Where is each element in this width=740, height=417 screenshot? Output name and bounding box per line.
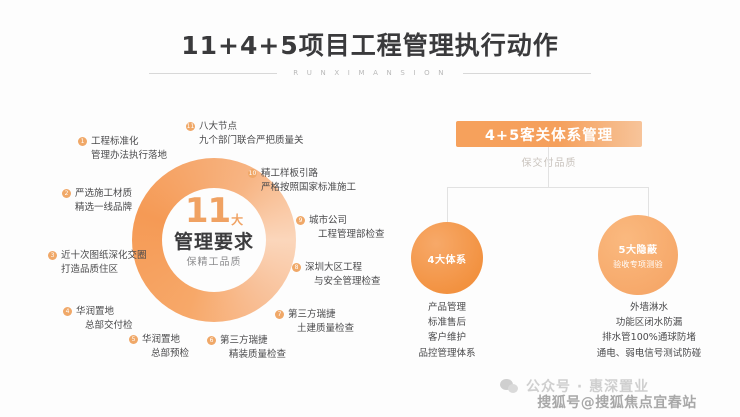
branch-bubble-5-hidden-line2: 验收专项测验 xyxy=(613,259,663,270)
ring-item-9-text: 城市公司 工程管理部检查 xyxy=(309,214,385,242)
ring-item-3-text: 近十次图纸深化交圈 打造品质住区 xyxy=(61,249,147,277)
ring-item-5[interactable]: 5 华润置地 总部预检 xyxy=(129,333,189,361)
branch-list-5-hidden: 外墙淋水 功能区闭水防漏 排水管100%通球防堵 通电、弱电信号测试防碰 xyxy=(558,300,740,361)
branch-bubble-4-systems[interactable]: 4大体系 xyxy=(411,222,483,294)
list-item: 功能区闭水防漏 xyxy=(558,315,740,330)
list-item: 客户维护 xyxy=(377,330,517,345)
list-item: 产品管理 xyxy=(377,300,517,315)
list-item: 标准售后 xyxy=(377,315,517,330)
ring-center-unit: 大 xyxy=(231,214,243,226)
ring-item-1-text: 工程标准化 管理办法执行落地 xyxy=(91,135,167,163)
ring-item-10-text: 精工样板引路 严格按照国家标准施工 xyxy=(261,167,356,195)
ring-item-2-dot: 2 xyxy=(62,189,71,198)
ring-item-2-text: 严选施工材质 精选一线品牌 xyxy=(75,187,132,215)
list-item: 通电、弱电信号测试防碰 xyxy=(558,346,740,361)
slide-canvas: 11+4+5项目工程管理执行动作 R U N X I M A N S I O N… xyxy=(0,0,740,417)
connector-branch-left xyxy=(447,187,448,222)
branch-list-4-systems: 产品管理 标准售后 客户维护 品控管理体系 xyxy=(377,300,517,361)
connector-crossbar xyxy=(447,187,649,188)
ring-item-5-dot: 5 xyxy=(129,335,138,344)
list-item: 排水管100%通球防堵 xyxy=(558,330,740,345)
ring-item-11-dot: 11 xyxy=(186,122,195,131)
ring-item-1[interactable]: 1 工程标准化 管理办法执行落地 xyxy=(78,135,167,163)
ring-item-3-dot: 3 xyxy=(48,251,57,260)
ring-item-7-dot: 7 xyxy=(275,310,284,319)
ring-center-main: 管理要求 xyxy=(132,233,296,252)
ring-item-4-text: 华润置地 总部交付检 xyxy=(76,305,133,333)
subtitle-divider-right xyxy=(463,73,591,74)
branch-bubble-4-systems-line1: 4大体系 xyxy=(428,251,467,266)
ring-item-6[interactable]: 6 第三方瑞捷 精装质量检查 xyxy=(207,334,286,362)
ring-item-10-dot: 10 xyxy=(248,169,257,178)
ring-item-6-dot: 6 xyxy=(207,336,216,345)
connector-stem xyxy=(548,147,549,187)
ring-item-11-text: 八大节点 九个部门联合严把质量关 xyxy=(199,120,304,148)
page-title: 11+4+5项目工程管理执行动作 xyxy=(0,26,740,62)
ring-item-10[interactable]: 10 精工样板引路 严格按照国家标准施工 xyxy=(248,167,356,195)
subtitle-row: R U N X I M A N S I O N xyxy=(0,69,740,77)
ring-item-4-dot: 4 xyxy=(63,307,72,316)
ring-item-8-dot: 8 xyxy=(292,263,301,272)
subtitle-divider-left xyxy=(149,73,277,74)
ring-item-7[interactable]: 7 第三方瑞捷 土建质量检查 xyxy=(275,308,354,336)
ring-center-number: 11 xyxy=(185,194,230,228)
list-item: 品控管理体系 xyxy=(377,346,517,361)
sohu-watermark: 搜狐号@搜狐焦点宜春站 xyxy=(497,392,737,412)
ring-center-sub: 保精工品质 xyxy=(132,258,296,268)
connector-branch-right xyxy=(648,187,649,217)
ring-item-11[interactable]: 11 八大节点 九个部门联合严把质量关 xyxy=(186,120,304,148)
ring-item-1-dot: 1 xyxy=(78,137,87,146)
ring-item-8-text: 深圳大区工程 与安全管理检查 xyxy=(305,261,381,289)
branch-bubble-5-hidden-line1: 5大隐蔽 xyxy=(619,241,658,256)
ring-item-3[interactable]: 3 近十次图纸深化交圈 打造品质住区 xyxy=(48,249,147,277)
ring-item-6-text: 第三方瑞捷 精装质量检查 xyxy=(220,334,286,362)
branch-bubble-5-hidden[interactable]: 5大隐蔽 验收专项测验 xyxy=(598,215,678,295)
ring-item-5-text: 华润置地 总部预检 xyxy=(142,333,189,361)
brand-subtitle: R U N X I M A N S I O N xyxy=(293,69,446,77)
customer-system-subtitle: 保交付品质 xyxy=(456,154,642,169)
ring-item-7-text: 第三方瑞捷 土建质量检查 xyxy=(288,308,354,336)
ring-item-8[interactable]: 8 深圳大区工程 与安全管理检查 xyxy=(292,261,381,289)
ring-center-label: 11大 管理要求 保精工品质 xyxy=(132,194,296,268)
ring-item-9[interactable]: 9 城市公司 工程管理部检查 xyxy=(296,214,385,242)
list-item: 外墙淋水 xyxy=(558,300,740,315)
ring-item-9-dot: 9 xyxy=(296,216,305,225)
ring-item-2[interactable]: 2 严选施工材质 精选一线品牌 xyxy=(62,187,132,215)
ring-item-4[interactable]: 4 华润置地 总部交付检 xyxy=(63,305,133,333)
customer-system-banner: 4+5客关体系管理 xyxy=(456,121,642,147)
